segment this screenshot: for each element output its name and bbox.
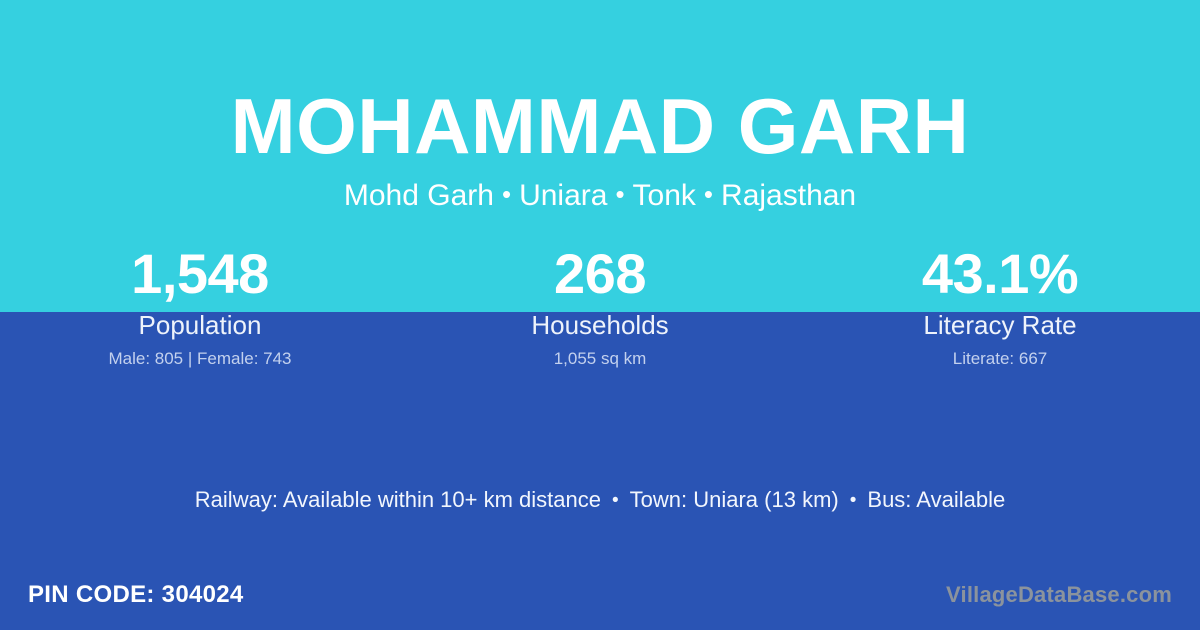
site-watermark: VillageDataBase.com [946,582,1172,608]
page-title: MOHAMMAD GARH [0,80,1200,172]
breadcrumb-separator-2: • [696,179,721,209]
breadcrumb: Mohd Garh•Uniara•Tonk•Rajasthan [0,174,1200,216]
stat-label-population: Population [0,309,400,341]
infrastructure-item-town: Town: Uniara (13 km) [630,487,839,512]
infrastructure-row: Railway: Available within 10+ km distanc… [0,485,1200,516]
stat-label-households: Households [400,309,800,341]
infrastructure-item-railway: Railway: Available within 10+ km distanc… [195,487,601,512]
breadcrumb-separator-0: • [494,179,519,209]
stat-sub-population: Male: 805 | Female: 743 [0,348,400,370]
breadcrumb-item-0: Mohd Garh [344,179,494,212]
village-info-card: MOHAMMAD GARH Mohd Garh•Uniara•Tonk•Raja… [0,0,1200,630]
breadcrumb-item-1: Uniara [519,179,607,212]
stat-value-literacy-rate: 43.1% [800,243,1200,305]
stat-value-households: 268 [400,243,800,305]
stat-literacy-rate: 43.1% Literacy Rate Literate: 667 [800,243,1200,370]
stat-value-population: 1,548 [0,243,400,305]
stat-sub-literacy-rate: Literate: 667 [800,348,1200,370]
stat-sub-households: 1,055 sq km [400,348,800,370]
breadcrumb-separator-1: • [607,179,632,209]
footer: PIN CODE: 304024 VillageDataBase.com [0,560,1200,630]
stat-population: 1,548 Population Male: 805 | Female: 743 [0,243,400,370]
breadcrumb-item-3: Rajasthan [721,179,856,212]
stat-label-literacy-rate: Literacy Rate [800,309,1200,341]
pin-code: PIN CODE: 304024 [28,581,244,609]
breadcrumb-item-2: Tonk [633,179,696,212]
stat-households: 268 Households 1,055 sq km [400,243,800,370]
stats-row: 1,548 Population Male: 805 | Female: 743… [0,243,1200,370]
infrastructure-separator-1: • [839,490,868,511]
header: MOHAMMAD GARH Mohd Garh•Uniara•Tonk•Raja… [0,0,1200,216]
infrastructure-item-bus: Bus: Available [867,487,1005,512]
infrastructure-separator-0: • [601,490,630,511]
